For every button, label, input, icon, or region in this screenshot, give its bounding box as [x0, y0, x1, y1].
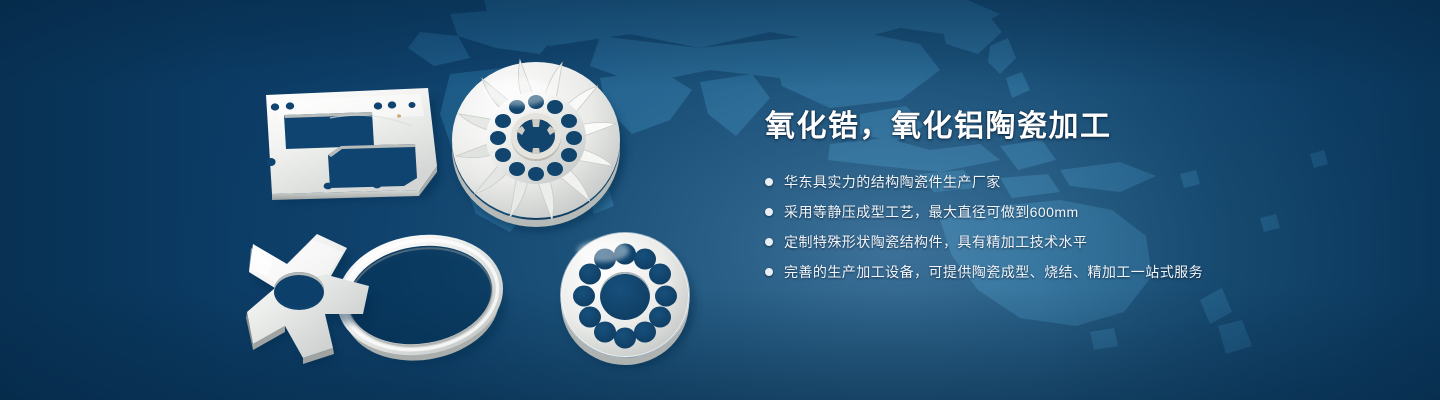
product-machined-ceramic-plate	[266, 88, 442, 202]
list-item: 采用等静压成型工艺，最大直径可做到600mm	[765, 203, 1385, 222]
bullet-dot-icon	[765, 268, 773, 276]
page-title: 氧化锆，氧化铝陶瓷加工	[765, 108, 1385, 146]
feature-text: 完善的生产加工设备，可提供陶瓷成型、烧结、精加工一站式服务	[784, 262, 1203, 282]
feature-text: 华东具实力的结构陶瓷件生产厂家	[784, 172, 1001, 192]
feature-list: 华东具实力的结构陶瓷件生产厂家 采用等静压成型工艺，最大直径可做到600mm 定…	[765, 173, 1385, 282]
banner-copy: 氧化锆，氧化铝陶瓷加工 华东具实力的结构陶瓷件生产厂家 采用等静压成型工艺，最大…	[765, 108, 1385, 293]
feature-text: 定制特殊形状陶瓷结构件，具有精加工技术水平	[784, 232, 1087, 252]
hero-banner: 氧化锆，氧化铝陶瓷加工 华东具实力的结构陶瓷件生产厂家 采用等静压成型工艺，最大…	[0, 0, 1440, 400]
list-item: 华东具实力的结构陶瓷件生产厂家	[765, 173, 1385, 192]
product-ceramic-perforated-disc	[561, 233, 695, 368]
list-item: 定制特殊形状陶瓷结构件，具有精加工技术水平	[765, 233, 1385, 252]
bullet-dot-icon	[765, 238, 773, 246]
list-item: 完善的生产加工设备，可提供陶瓷成型、烧结、精加工一站式服务	[765, 263, 1385, 282]
product-photo-cluster	[0, 0, 740, 400]
feature-text: 采用等静压成型工艺，最大直径可做到600mm	[784, 202, 1079, 222]
product-ceramic-cross-plate	[246, 234, 374, 367]
product-ceramic-impeller-rotor	[452, 60, 626, 232]
bullet-dot-icon	[765, 178, 773, 186]
bullet-dot-icon	[765, 208, 773, 216]
